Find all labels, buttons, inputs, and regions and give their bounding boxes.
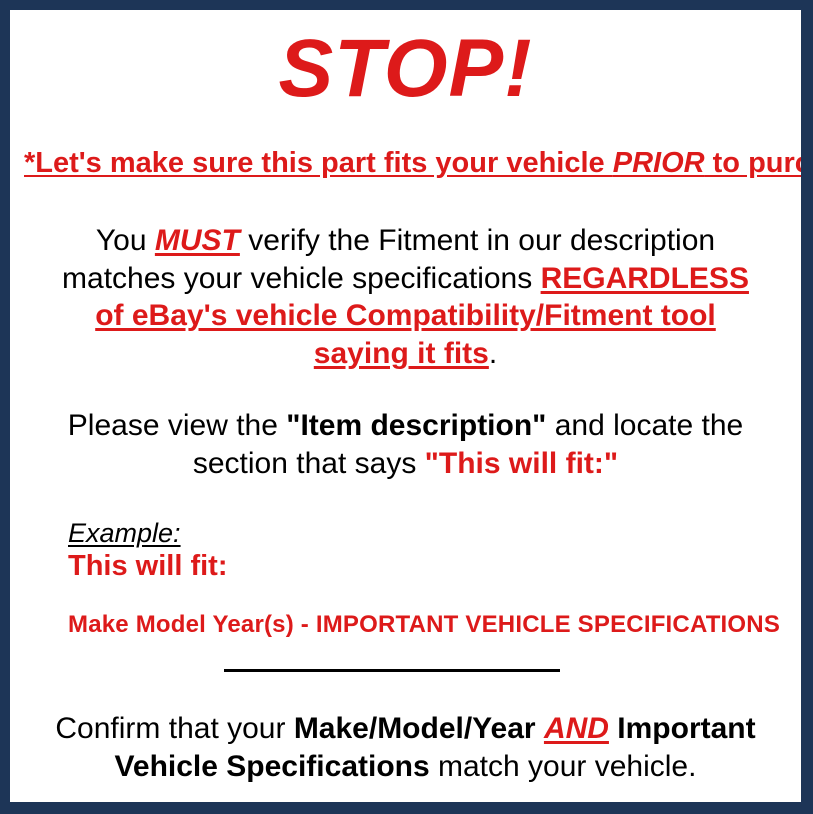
stop-title: STOP! bbox=[24, 10, 787, 110]
emphasis-make-model-year: Make/Model/Year bbox=[294, 712, 536, 745]
example-label-row: Example: bbox=[68, 519, 787, 549]
confirm-tail-text: match your vehicle. bbox=[430, 750, 697, 783]
description-lead-text: Please view the bbox=[68, 409, 286, 442]
paragraph-item-description: Please view the "Item description" and l… bbox=[24, 373, 787, 483]
emphasis-item-description: "Item description" bbox=[286, 409, 546, 442]
emphasis-must: MUST bbox=[155, 224, 240, 257]
confirm-lead-text: Confirm that your bbox=[55, 712, 293, 745]
example-fit-heading: This will fit: bbox=[68, 548, 787, 583]
emphasis-this-will-fit: "This will fit:" bbox=[425, 447, 618, 480]
fitment-warning-banner: STOP! *Let's make sure this part fits yo… bbox=[0, 0, 813, 814]
subtitle-lead-text: *Let's make sure this part fits your veh… bbox=[24, 147, 613, 179]
paragraph-donor-vin: The donor VIN in the listing can also be… bbox=[24, 786, 787, 814]
banner-subtitle: *Let's make sure this part fits your veh… bbox=[24, 110, 787, 180]
paragraph-must-verify: You MUST verify the Fitment in our descr… bbox=[24, 180, 787, 373]
divider-row bbox=[24, 638, 787, 680]
must-lead-text: You bbox=[96, 224, 155, 257]
must-trailing-period: . bbox=[489, 337, 497, 370]
banner-content: STOP! *Let's make sure this part fits yo… bbox=[10, 10, 801, 802]
subtitle-emphasis-prior: PRIOR bbox=[613, 147, 705, 179]
example-label: Example: bbox=[68, 519, 181, 549]
emphasis-and: AND bbox=[544, 712, 609, 745]
horizontal-divider bbox=[224, 669, 560, 672]
example-spec-line: Make Model Year(s) - IMPORTANT VEHICLE S… bbox=[68, 584, 787, 638]
example-block: Example: This will fit: Make Model Year(… bbox=[24, 483, 787, 638]
subtitle-tail-text: to purchasing* bbox=[705, 147, 813, 179]
paragraph-confirm: Confirm that your Make/Model/Year AND Im… bbox=[24, 680, 787, 786]
